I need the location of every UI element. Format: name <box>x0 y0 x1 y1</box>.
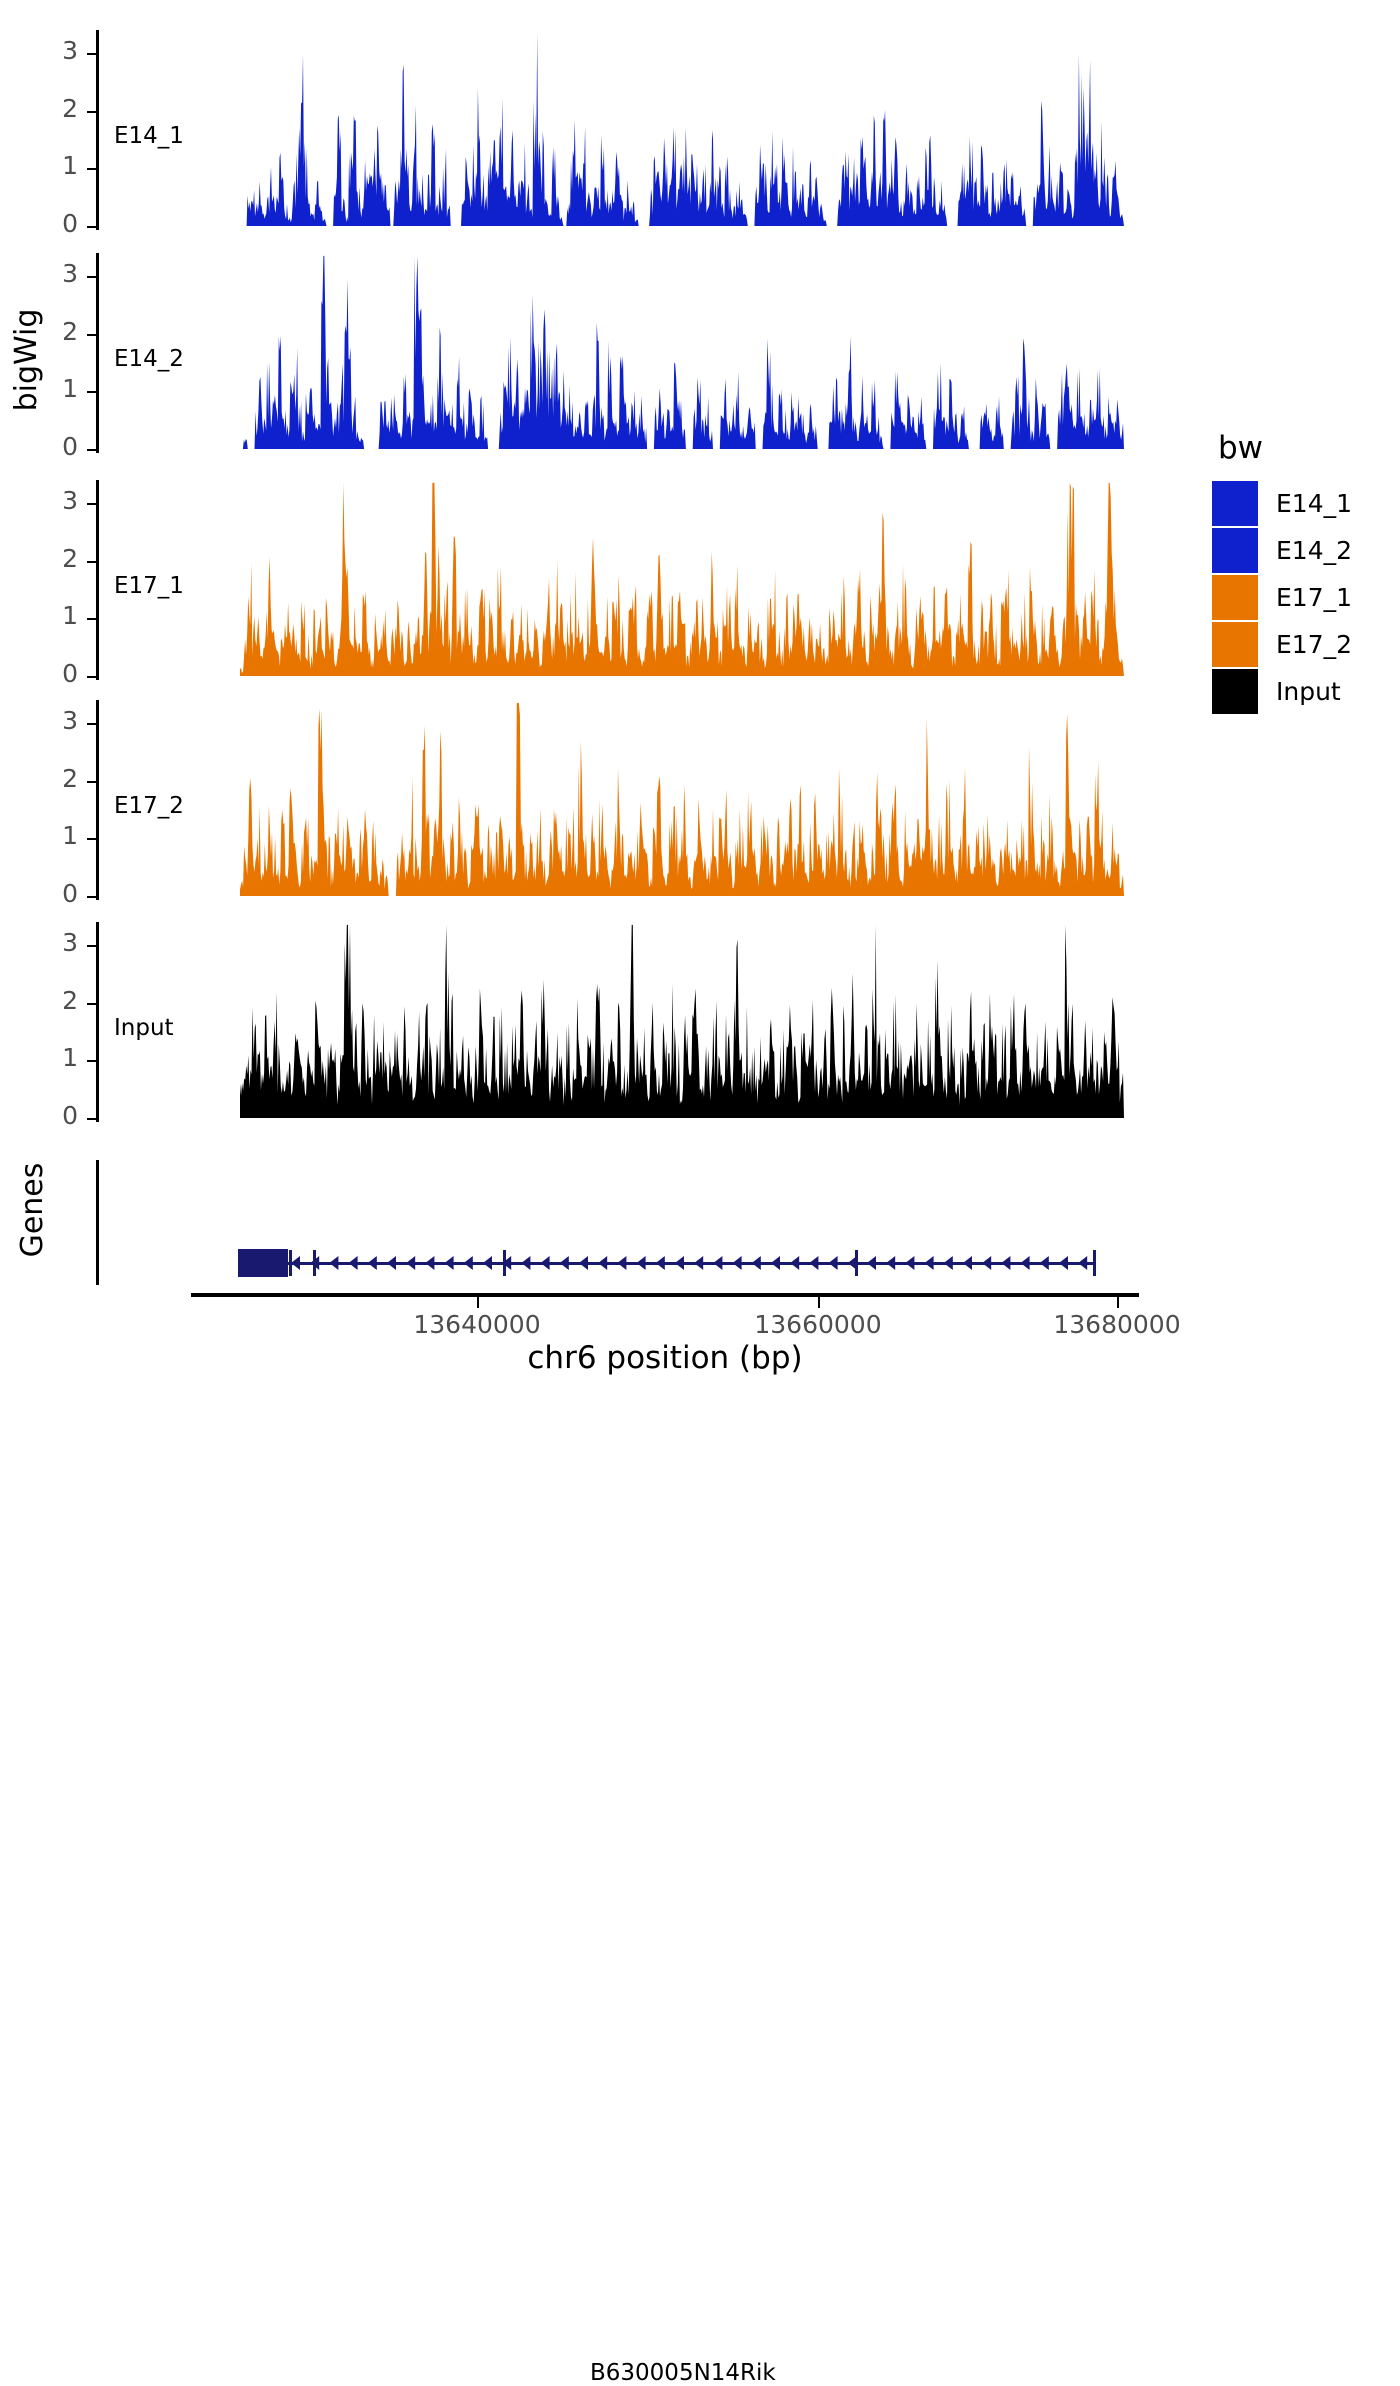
y-tick <box>87 618 96 620</box>
y-tick-label: 2 <box>32 317 78 346</box>
legend-item-e17_1[interactable]: E17_1 <box>1212 574 1352 621</box>
y-tick-label: 3 <box>32 928 78 957</box>
legend-swatch <box>1212 669 1258 714</box>
y-tick-label: 1 <box>32 374 78 403</box>
y-tick <box>87 276 96 278</box>
legend-swatch <box>1212 622 1258 667</box>
x-tick <box>477 1297 479 1308</box>
y-tick-label: 0 <box>32 209 78 238</box>
y-tick <box>87 449 96 451</box>
legend: bw E14_1E14_2E17_1E17_2Input <box>1212 430 1352 715</box>
x-tick <box>818 1297 820 1308</box>
y-tick-label: 2 <box>32 764 78 793</box>
y-axis-line-e14_2 <box>96 253 99 453</box>
y-tick <box>87 676 96 678</box>
y-tick-label: 0 <box>32 879 78 908</box>
y-tick-label: 3 <box>32 36 78 65</box>
y-tick-label: 3 <box>32 486 78 515</box>
legend-title: bw <box>1218 430 1352 466</box>
y-tick-label: 1 <box>32 821 78 850</box>
y-tick <box>87 391 96 393</box>
x-tick-label: 13660000 <box>738 1310 898 1339</box>
y-axis-line-e14_1 <box>96 30 99 230</box>
y-axis-line-e17_2 <box>96 700 99 900</box>
y-tick <box>87 945 96 947</box>
legend-item-e14_2[interactable]: E14_2 <box>1212 527 1352 574</box>
y-tick-label: 0 <box>32 1101 78 1130</box>
legend-label: Input <box>1276 677 1341 706</box>
track-label-e14_2: E14_2 <box>114 346 184 372</box>
legend-label: E14_1 <box>1276 489 1352 518</box>
legend-swatch <box>1212 528 1258 573</box>
y-tick <box>87 1060 96 1062</box>
y-axis-line-input <box>96 922 99 1122</box>
y-tick-label: 2 <box>32 94 78 123</box>
y-tick-label: 0 <box>32 432 78 461</box>
y-tick <box>87 838 96 840</box>
legend-item-e17_2[interactable]: E17_2 <box>1212 621 1352 668</box>
y-tick <box>87 1003 96 1005</box>
x-tick <box>1117 1297 1119 1308</box>
x-axis-label: chr6 position (bp) <box>440 1340 890 1376</box>
legend-item-input[interactable]: Input <box>1212 668 1352 715</box>
legend-label: E17_2 <box>1276 630 1352 659</box>
signal-area-e17_2[interactable] <box>240 700 1124 900</box>
track-label-e17_1: E17_1 <box>114 573 184 599</box>
y-tick <box>87 334 96 336</box>
signal-area-e14_1[interactable] <box>240 30 1124 230</box>
legend-items: E14_1E14_2E17_1E17_2Input <box>1212 480 1352 715</box>
y-tick-label: 1 <box>32 151 78 180</box>
y-tick-label: 3 <box>32 706 78 735</box>
track-label-e14_1: E14_1 <box>114 123 184 149</box>
legend-swatch <box>1212 481 1258 526</box>
signal-area-input[interactable] <box>240 922 1124 1122</box>
y-tick <box>87 111 96 113</box>
legend-swatch <box>1212 575 1258 620</box>
y-tick-label: 2 <box>32 544 78 573</box>
y-tick <box>87 503 96 505</box>
track-label-e17_2: E17_2 <box>114 793 184 819</box>
legend-label: E17_1 <box>1276 583 1352 612</box>
y-tick-label: 0 <box>32 659 78 688</box>
gene-name-label: B630005N14Rik <box>590 2360 776 2386</box>
y-tick <box>87 561 96 563</box>
legend-item-e14_1[interactable]: E14_1 <box>1212 480 1352 527</box>
y-tick-label: 2 <box>32 986 78 1015</box>
y-tick <box>87 896 96 898</box>
x-axis-line <box>191 1293 1139 1297</box>
y-tick-label: 1 <box>32 1043 78 1072</box>
track-label-input: Input <box>114 1015 174 1041</box>
x-tick-label: 13680000 <box>1037 1310 1197 1339</box>
y-tick-label: 1 <box>32 601 78 630</box>
gene-strand-arrows <box>0 1244 1400 1284</box>
y-tick <box>87 1118 96 1120</box>
x-tick-label: 13640000 <box>397 1310 557 1339</box>
y-tick <box>87 226 96 228</box>
y-tick <box>87 723 96 725</box>
y-tick-label: 3 <box>32 259 78 288</box>
y-axis-line-e17_1 <box>96 480 99 680</box>
legend-label: E14_2 <box>1276 536 1352 565</box>
y-tick <box>87 53 96 55</box>
signal-area-e17_1[interactable] <box>240 480 1124 680</box>
y-tick <box>87 168 96 170</box>
y-tick <box>87 781 96 783</box>
signal-area-e14_2[interactable] <box>240 253 1124 453</box>
